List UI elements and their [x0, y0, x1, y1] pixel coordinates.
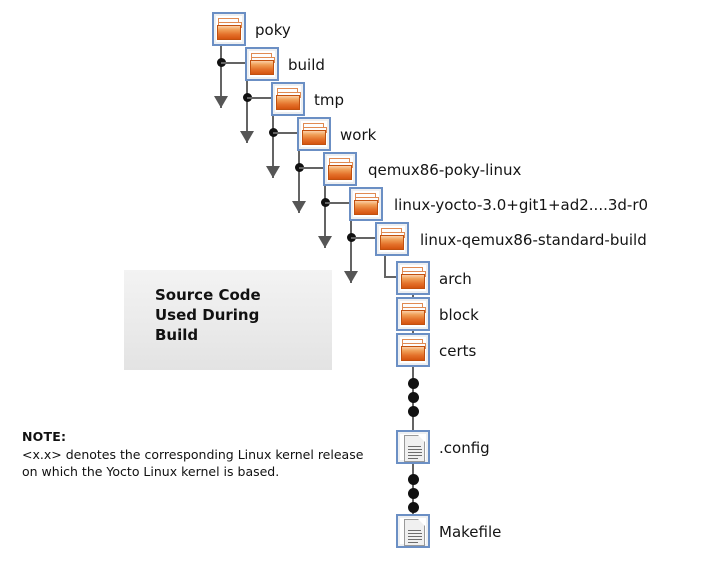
tree-node-label: linux-yocto-3.0+git1+ad2....3d-r0 [394, 198, 648, 213]
note-title: NOTE: [22, 429, 382, 444]
tree-node-label: qemux86-poky-linux [368, 163, 521, 178]
callout-box: Source Code Used During Build [124, 270, 332, 370]
folder-icon [271, 82, 305, 116]
folder-icon [396, 333, 430, 367]
folder-icon [323, 152, 357, 186]
tree-node-label: tmp [314, 93, 344, 108]
connector-branch-work [299, 167, 325, 169]
ellipsis-dot-2 [408, 392, 419, 403]
ellipsis-dot-5 [408, 488, 419, 499]
connector-branch-linux-yocto [351, 237, 377, 239]
tree-node-label: Makefile [439, 525, 501, 540]
folder-icon [375, 222, 409, 256]
callout-text: Source Code Used During Build [155, 285, 261, 345]
tree-node-label: block [439, 308, 479, 323]
tree-node-label: build [288, 58, 325, 73]
file-icon [396, 514, 430, 548]
connector-branch-build [247, 97, 273, 99]
connector-arrow-poky [214, 96, 228, 108]
folder-icon [396, 297, 430, 331]
connector-branch-qemux86 [325, 202, 351, 204]
tree-node-label: poky [255, 23, 291, 38]
connector-arrow-tmp [266, 166, 280, 178]
diagram-canvas: poky build tmp work qemux86-poky-linux l… [0, 0, 705, 581]
connector-branch-tmp [273, 132, 299, 134]
tree-node-label: arch [439, 272, 472, 287]
tree-node-label: linux-qemux86-standard-build [420, 233, 647, 248]
connector-branch-poky [221, 62, 247, 64]
folder-icon [396, 261, 430, 295]
ellipsis-dot-1 [408, 378, 419, 389]
tree-node-label: work [340, 128, 376, 143]
note-block: NOTE: <x.x> denotes the corresponding Li… [22, 429, 382, 480]
connector-line-standard-build [384, 256, 386, 278]
connector-arrow-linux-yocto [344, 271, 358, 283]
folder-icon [212, 12, 246, 46]
folder-icon [245, 47, 279, 81]
note-body: <x.x> denotes the corresponding Linux ke… [22, 446, 382, 480]
file-icon [396, 430, 430, 464]
connector-arrow-work [292, 201, 306, 213]
folder-icon [297, 117, 331, 151]
folder-icon [349, 187, 383, 221]
tree-node-label: .config [439, 441, 490, 456]
ellipsis-dot-4 [408, 474, 419, 485]
connector-arrow-qemux86 [318, 236, 332, 248]
ellipsis-dot-3 [408, 406, 419, 417]
connector-arrow-build [240, 131, 254, 143]
tree-node-label: certs [439, 344, 476, 359]
ellipsis-dot-6 [408, 502, 419, 513]
